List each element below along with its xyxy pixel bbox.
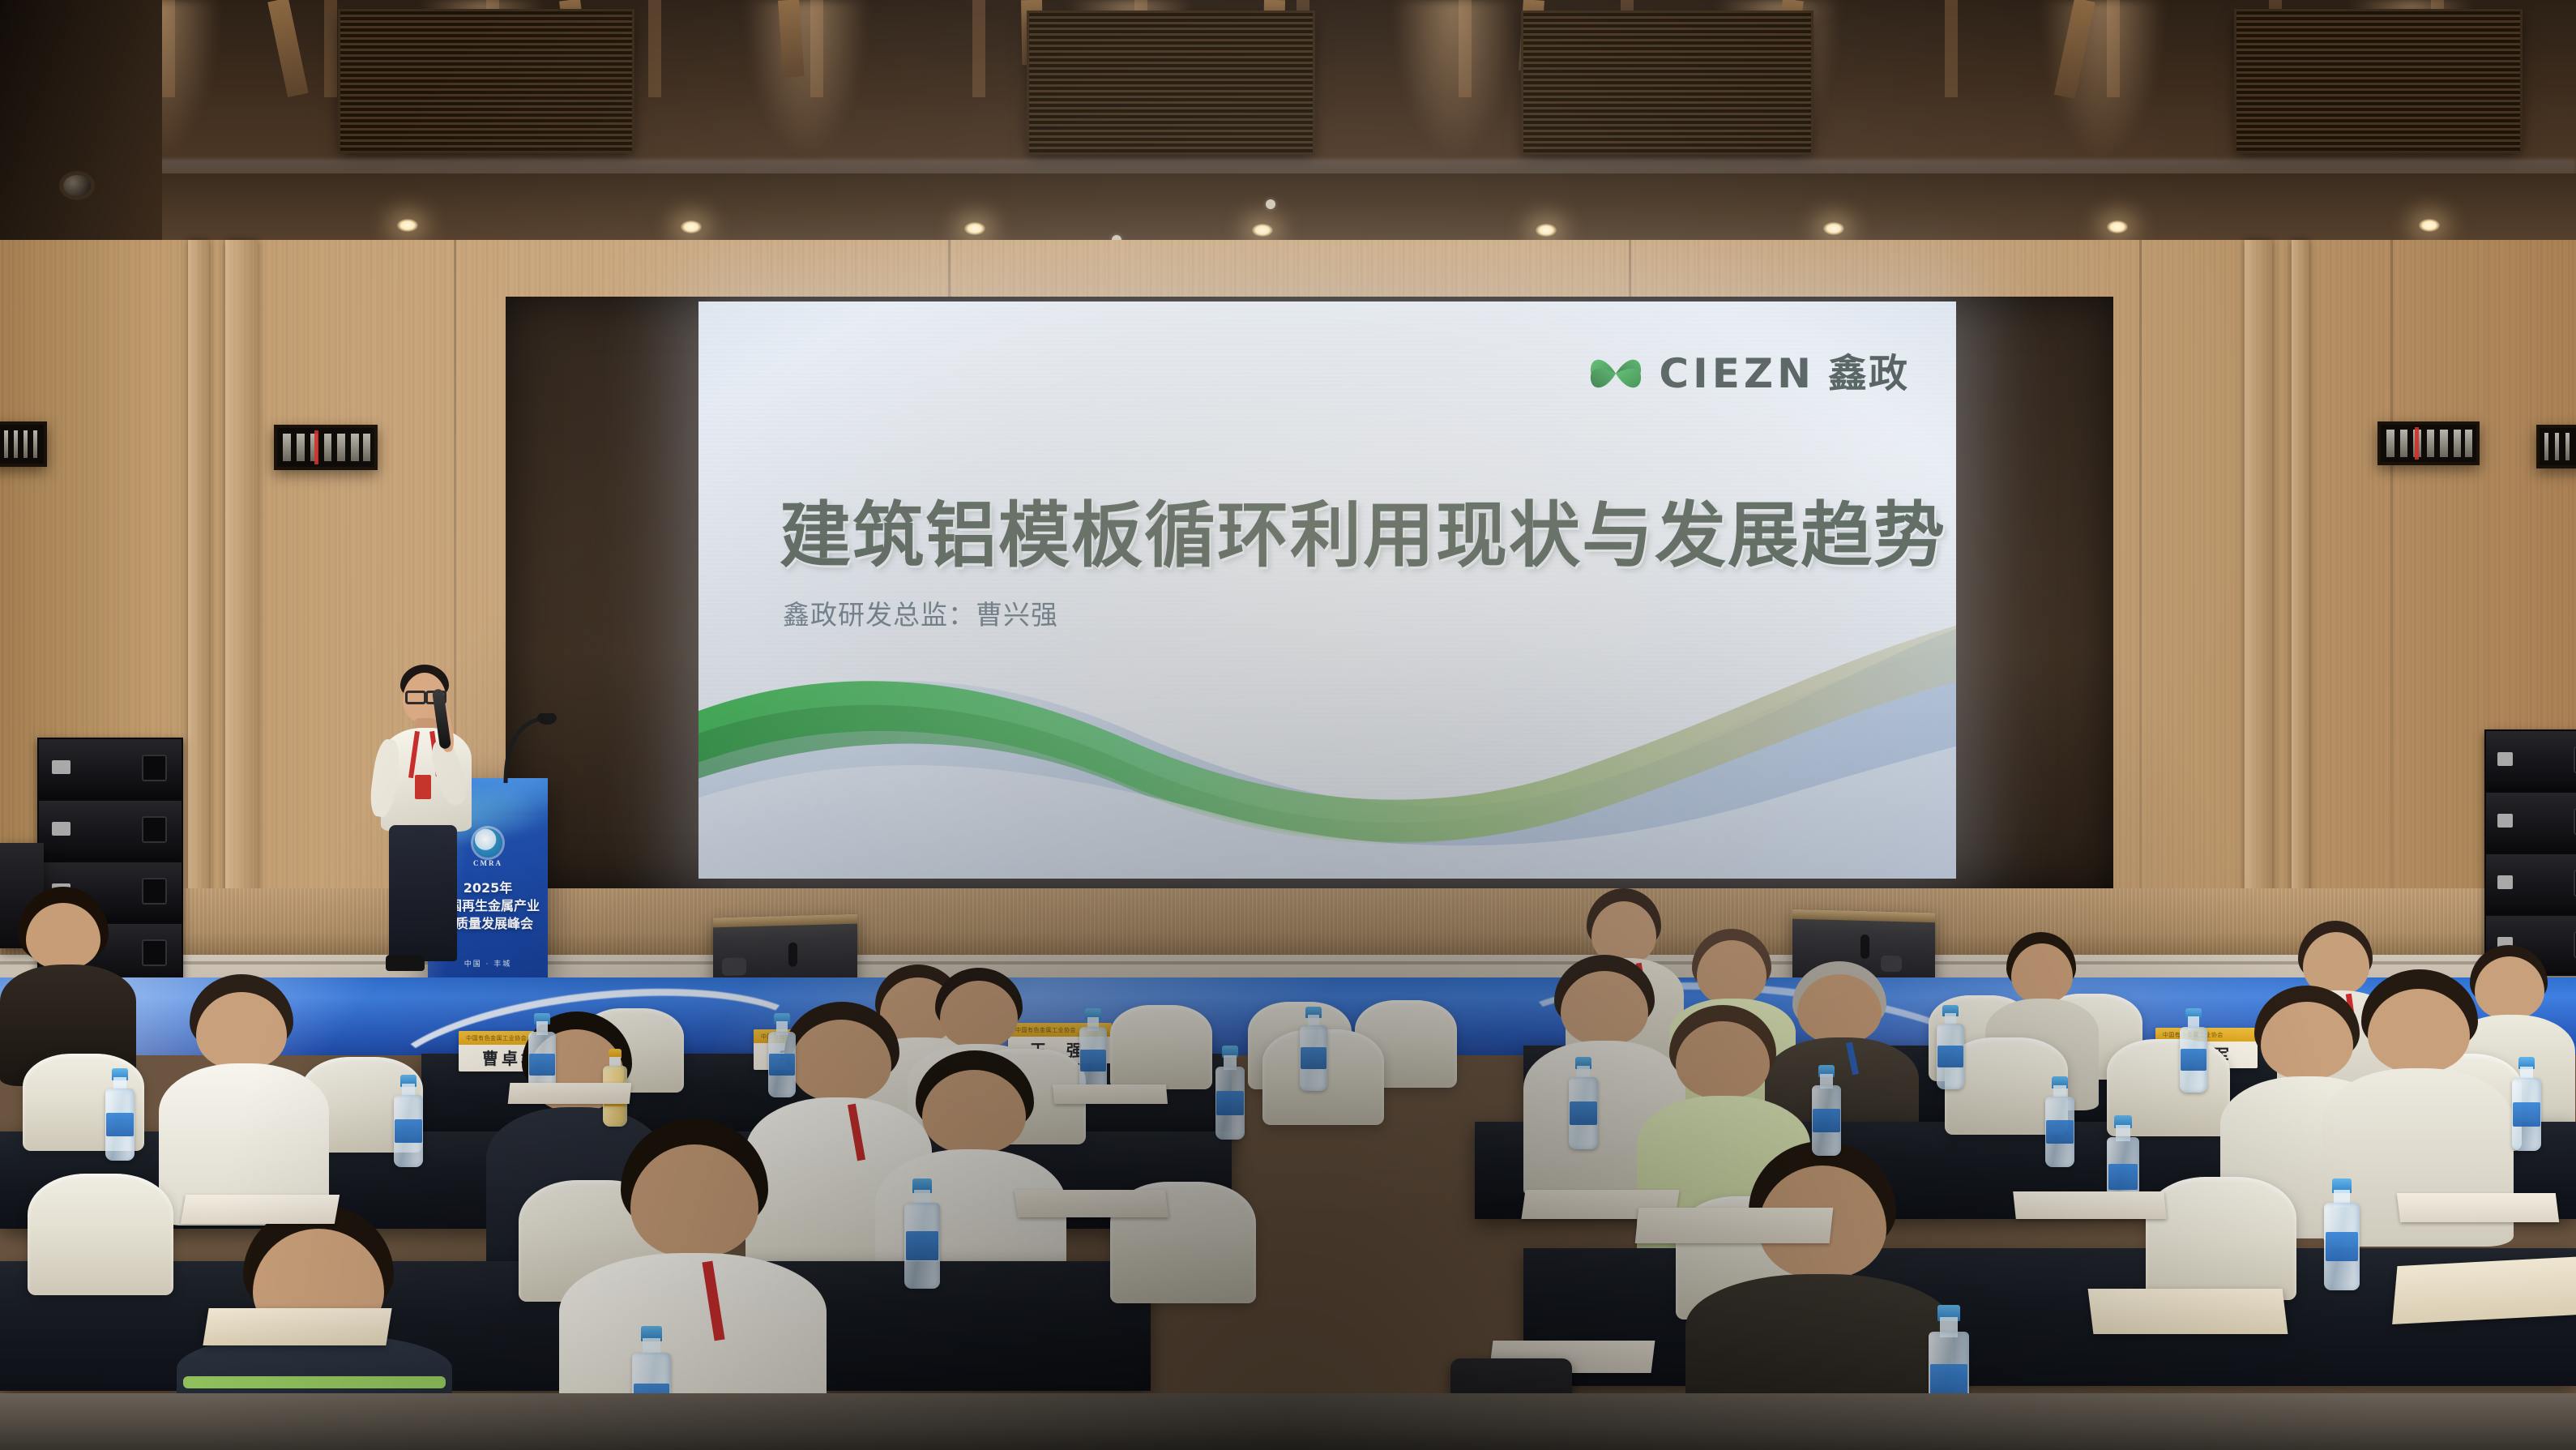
water-bottle: [1079, 1008, 1107, 1094]
notepad: [1015, 1190, 1169, 1217]
ceiling-downlight: [2419, 219, 2440, 232]
ceiling-left-soffit: [0, 0, 162, 267]
presenter-badge: [415, 775, 431, 799]
conference-booklet: [203, 1308, 391, 1345]
audience-chair: [1110, 1005, 1212, 1089]
ceiling-downlight: [397, 219, 418, 232]
slide-brand-logo: CIEZN 鑫政: [1586, 344, 1909, 404]
slide-subtitle: 鑫政研发总监：曹兴强: [783, 593, 1058, 632]
ceiling-air-vent: [1523, 13, 1811, 152]
audience-chair: [2146, 1177, 2296, 1300]
conference-booklet: [2088, 1289, 2288, 1334]
wall-pilaster: [2292, 240, 2309, 896]
water-bottle: [1569, 1057, 1598, 1149]
smoke-detector-icon: [1266, 199, 1275, 209]
conference-hall-photo: CIEZN 鑫政 建筑铝模板循环利用现状与发展趋势 鑫政研发总监：曹兴强 CMR…: [0, 0, 2576, 1450]
line-array-speaker-stack-right: [2484, 729, 2576, 973]
wall-pilaster: [2245, 240, 2272, 896]
slide-title: 建筑铝模板循环利用现状与发展趋势: [780, 478, 1946, 581]
wall-mounted-speaker: [0, 421, 47, 467]
water-bottle: [2512, 1057, 2541, 1151]
water-bottle: [105, 1068, 135, 1161]
ceiling-downlight: [2107, 220, 2128, 233]
ceiling-air-vent: [1029, 13, 1313, 152]
notepad: [1053, 1084, 1168, 1104]
presentation-screen: CIEZN 鑫政 建筑铝模板循环利用现状与发展趋势 鑫政研发总监：曹兴强: [698, 302, 1956, 879]
wall-mounted-speaker: [2536, 425, 2576, 468]
water-bottle: [904, 1178, 940, 1289]
notepad: [508, 1083, 632, 1104]
wall-mounted-speaker: [274, 425, 378, 470]
wall-mounted-speaker: [2377, 421, 2480, 465]
water-bottle: [1215, 1046, 1245, 1140]
water-bottle: [1812, 1065, 1841, 1156]
notepad: [181, 1195, 340, 1224]
floor-carpet: [0, 1393, 2576, 1450]
water-bottle: [394, 1075, 423, 1167]
notepad: [2397, 1193, 2559, 1222]
shirt-stripe: [183, 1376, 446, 1388]
water-bottle: [2045, 1076, 2074, 1167]
water-bottle: [2324, 1178, 2360, 1290]
brand-logo-text: CIEZN: [1659, 353, 1815, 394]
open-booklet: [1635, 1208, 1834, 1243]
water-bottle: [1300, 1007, 1327, 1091]
water-bottle: [2180, 1008, 2207, 1093]
ciezn-leaf-logo-icon: [1586, 344, 1646, 404]
ceiling-dome-camera-icon: [63, 175, 91, 196]
ceiling-air-vent: [2236, 11, 2520, 151]
ceiling-downlight: [964, 222, 985, 235]
wall-pilaster: [188, 240, 209, 896]
ceiling-air-vent: [340, 11, 632, 151]
brand-logo-cn: 鑫政: [1828, 354, 1909, 393]
ceiling-downlight: [681, 220, 702, 233]
presenter-glasses-icon: [405, 691, 426, 704]
ceiling-downlight: [1823, 222, 1844, 235]
audience-member: [0, 887, 139, 1073]
slide-wave-graphic: [698, 613, 1956, 879]
audience-chair: [28, 1174, 173, 1295]
presenter: [366, 665, 496, 982]
ceiling-downlight: [1536, 224, 1557, 237]
presenter-shoe: [386, 955, 425, 971]
wall-pilaster: [225, 240, 258, 896]
water-bottle: [768, 1013, 796, 1097]
ceiling-downlight: [1252, 224, 1273, 237]
audience-member: [159, 974, 329, 1217]
notepad: [2013, 1191, 2167, 1219]
conference-booklet: [2392, 1256, 2576, 1324]
water-bottle: [1937, 1005, 1964, 1089]
presenter-trousers: [389, 825, 457, 961]
